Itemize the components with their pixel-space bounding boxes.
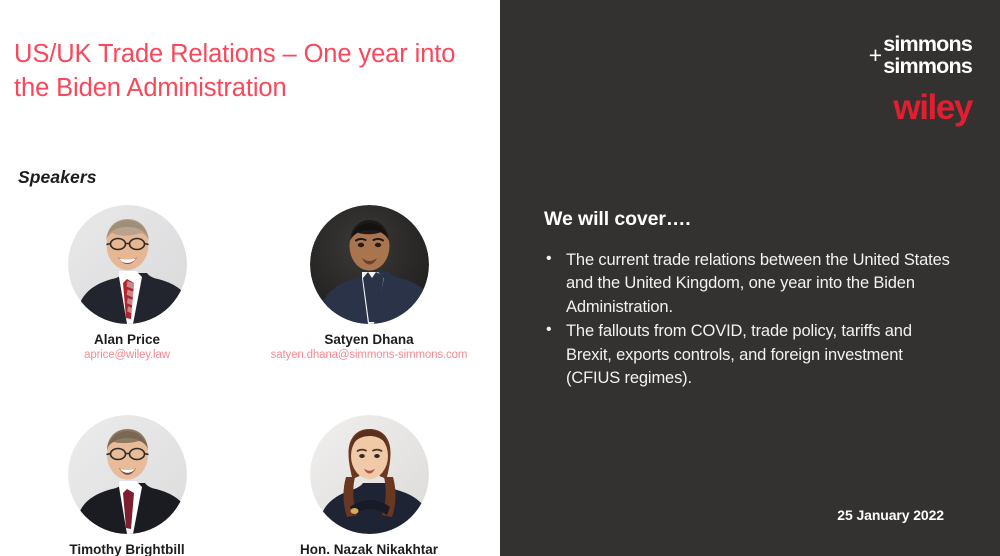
agenda-list: • The current trade relations between th…: [540, 249, 960, 392]
speaker-name: Timothy Brightbill: [69, 542, 184, 556]
right-dark-panel: + simmons simmons wiley We will cover…. …: [500, 0, 1000, 556]
photo-satyen-dhana: [310, 205, 429, 324]
speaker-card-timothy-brightbill[interactable]: Timothy Brightbill tbrightbill@wiley.law: [12, 415, 242, 556]
page-title: US/UK Trade Relations – One year into th…: [14, 38, 484, 106]
speaker-email[interactable]: aprice@wiley.law: [84, 349, 170, 361]
plus-icon: +: [869, 45, 882, 67]
speaker-row: Timothy Brightbill tbrightbill@wiley.law: [0, 415, 500, 556]
speaker-card-nazak-nikakhtar[interactable]: Hon. Nazak Nikakhtar nnikakhtar@wiley.la…: [254, 415, 484, 556]
list-item: • The current trade relations between th…: [540, 249, 960, 319]
photo-nazak-nikakhtar: [310, 415, 429, 534]
speaker-name: Satyen Dhana: [324, 332, 413, 347]
presentation-slide: US/UK Trade Relations – One year into th…: [0, 0, 1000, 556]
simmons-logo-line-1: simmons: [883, 33, 972, 55]
list-item: • The fallouts from COVID, trade policy,…: [540, 320, 960, 390]
left-content-panel: US/UK Trade Relations – One year into th…: [0, 0, 500, 556]
simmons-simmons-logo: + simmons simmons: [869, 33, 972, 78]
speakers-grid: Alan Price aprice@wiley.law: [0, 205, 500, 556]
photo-timothy-brightbill: [68, 415, 187, 534]
speaker-card-alan-price[interactable]: Alan Price aprice@wiley.law: [12, 205, 242, 361]
slide-date: 25 January 2022: [837, 507, 944, 523]
photo-alan-price: [68, 205, 187, 324]
speaker-email[interactable]: satyen.dhana@simmons-simmons.com: [271, 349, 468, 361]
agenda-heading: We will cover….: [544, 208, 691, 231]
speaker-row: Alan Price aprice@wiley.law: [0, 205, 500, 361]
list-item-text: The current trade relations between the …: [566, 251, 950, 316]
wiley-logo: wiley: [869, 90, 972, 125]
logo-block: + simmons simmons wiley: [869, 33, 972, 125]
bullet-icon: •: [546, 248, 551, 271]
speaker-card-satyen-dhana[interactable]: Satyen Dhana satyen.dhana@simmons-simmon…: [254, 205, 484, 361]
list-item-text: The fallouts from COVID, trade policy, t…: [566, 322, 912, 387]
speaker-name: Hon. Nazak Nikakhtar: [300, 542, 438, 556]
bullet-icon: •: [546, 319, 551, 342]
speakers-section-label: Speakers: [18, 167, 97, 188]
simmons-logo-line-2: simmons: [883, 55, 972, 77]
speaker-name: Alan Price: [94, 332, 160, 347]
